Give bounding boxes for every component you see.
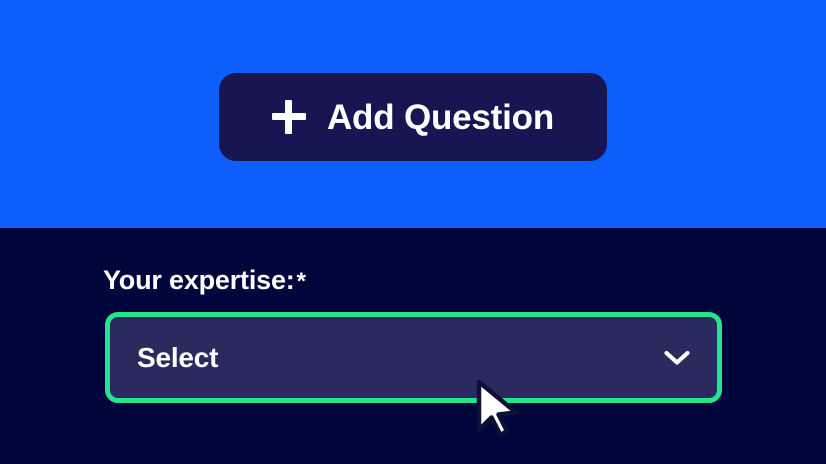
- expertise-field-label: Your expertise:*: [103, 266, 306, 296]
- expertise-select-value: Select: [137, 344, 664, 372]
- add-question-button[interactable]: Add Question: [219, 73, 607, 161]
- chevron-down-icon[interactable]: [664, 350, 690, 366]
- top-blue-panel: Add Question: [0, 0, 826, 228]
- add-question-label: Add Question: [327, 100, 554, 135]
- plus-icon: [272, 100, 306, 134]
- screen-root: Add Question Your expertise:* Select: [0, 0, 826, 464]
- expertise-label-text: Your expertise:: [103, 265, 295, 295]
- expertise-select[interactable]: Select: [105, 312, 722, 403]
- required-asterisk: *: [295, 268, 306, 295]
